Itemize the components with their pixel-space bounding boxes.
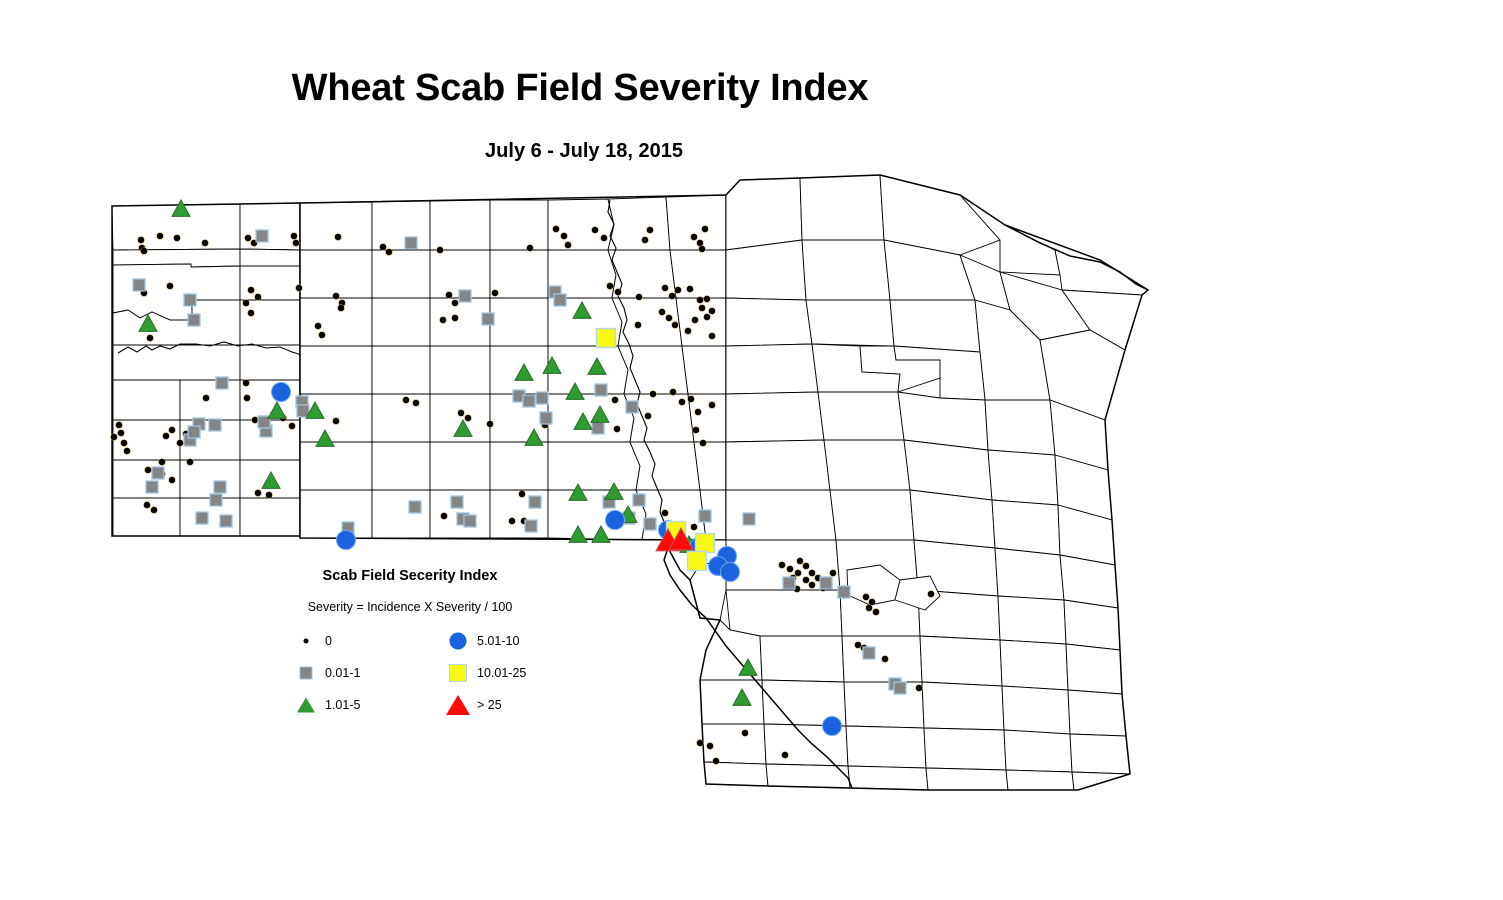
map-point-0[interactable] <box>863 594 870 601</box>
map-canvas[interactable] <box>0 0 1503 900</box>
map-point-0[interactable] <box>333 293 340 300</box>
map-point-0[interactable] <box>177 440 184 447</box>
map-point-0[interactable] <box>243 300 250 307</box>
map-point-0[interactable] <box>121 440 128 447</box>
legend-formula: Severity = Incidence X Severity / 100 <box>285 600 535 614</box>
map-point-0[interactable] <box>662 285 669 292</box>
map-point-0[interactable] <box>413 400 420 407</box>
map-point-0[interactable] <box>561 233 568 240</box>
map-point-0[interactable] <box>151 507 158 514</box>
map-point-0[interactable] <box>662 510 669 517</box>
map-point-0.01-1[interactable] <box>633 494 645 506</box>
map-point-0[interactable] <box>830 570 837 577</box>
map-point-0[interactable] <box>592 227 599 234</box>
map-point-0.01-1[interactable] <box>196 512 208 524</box>
map-point-0[interactable] <box>380 244 387 251</box>
map-point-0[interactable] <box>509 518 516 525</box>
map-point-0[interactable] <box>787 566 794 573</box>
map-point-0[interactable] <box>645 413 652 420</box>
map-point-0[interactable] <box>797 558 804 565</box>
map-point-0[interactable] <box>255 294 262 301</box>
map-point-0[interactable] <box>666 315 673 322</box>
map-point-0[interactable] <box>289 423 296 430</box>
map-point-0.01-1[interactable] <box>133 279 145 291</box>
map-point-0[interactable] <box>465 415 472 422</box>
map-point-0.01-1[interactable] <box>592 422 604 434</box>
map-point-0.01-1[interactable] <box>256 230 268 242</box>
map-point-0[interactable] <box>437 247 444 254</box>
green-triangle-icon <box>293 692 319 718</box>
map-point-0.01-1[interactable] <box>216 377 228 389</box>
map-point-0[interactable] <box>672 322 679 329</box>
map-point-0.01-1[interactable] <box>554 294 566 306</box>
map-point-0[interactable] <box>803 577 810 584</box>
map-point-0[interactable] <box>713 758 720 765</box>
map-point-0[interactable] <box>691 524 698 531</box>
map-point-0[interactable] <box>111 434 118 441</box>
map-point-5.01-10[interactable] <box>823 717 842 736</box>
blue-circle-glyph <box>450 633 467 650</box>
map-point-0.01-1[interactable] <box>464 515 476 527</box>
legend-entry-label: 5.01-10 <box>477 634 519 648</box>
map-point-0[interactable] <box>742 730 749 737</box>
map-point-0[interactable] <box>452 300 459 307</box>
map-point-0.01-1[interactable] <box>523 395 535 407</box>
map-point-0[interactable] <box>704 296 711 303</box>
map-point-0[interactable] <box>647 227 654 234</box>
map-point-0[interactable] <box>709 402 716 409</box>
map-point-0[interactable] <box>245 235 252 242</box>
map-point-0.01-1[interactable] <box>863 647 875 659</box>
map-point-0.01-1[interactable] <box>644 518 656 530</box>
map-point-0[interactable] <box>687 286 694 293</box>
map-point-5.01-10[interactable] <box>272 383 291 402</box>
map-point-0[interactable] <box>601 235 608 242</box>
map-point-0.01-1[interactable] <box>146 481 158 493</box>
map-point-0[interactable] <box>688 396 695 403</box>
map-point-0[interactable] <box>203 395 210 402</box>
map-point-0[interactable] <box>615 289 622 296</box>
map-point-0[interactable] <box>699 246 706 253</box>
gray-square-icon <box>293 660 319 686</box>
map-point-0[interactable] <box>685 328 692 335</box>
map-point-0[interactable] <box>487 421 494 428</box>
map-point-0[interactable] <box>458 410 465 417</box>
map-point-0[interactable] <box>869 599 876 606</box>
map-point-0[interactable] <box>642 237 649 244</box>
map-point-0[interactable] <box>693 427 700 434</box>
map-point-5.01-10[interactable] <box>337 531 356 550</box>
map-point-0.01-1[interactable] <box>184 294 196 306</box>
map-point-0[interactable] <box>614 426 621 433</box>
black-dot-glyph <box>304 639 309 644</box>
map-point-0[interactable] <box>702 226 709 233</box>
map-point-0[interactable] <box>565 242 572 249</box>
map-point-0[interactable] <box>116 422 123 429</box>
map-svg <box>0 0 1503 900</box>
map-point-10.01-25[interactable] <box>597 329 616 348</box>
map-point-0[interactable] <box>650 391 657 398</box>
map-point-0[interactable] <box>169 477 176 484</box>
map-point-0[interactable] <box>782 752 789 759</box>
green-triangle-glyph <box>297 698 315 713</box>
map-point-0[interactable] <box>386 249 393 256</box>
red-triangle-icon <box>445 692 471 718</box>
map-point-0[interactable] <box>243 380 250 387</box>
map-point-0[interactable] <box>315 323 322 330</box>
map-point-0.01-1[interactable] <box>409 501 421 513</box>
map-point-0[interactable] <box>697 297 704 304</box>
map-point-0.01-1[interactable] <box>405 237 417 249</box>
map-point-0[interactable] <box>795 570 802 577</box>
map-point-0[interactable] <box>636 294 643 301</box>
map-point-0.01-1[interactable] <box>152 467 164 479</box>
map-point-0.01-1[interactable] <box>459 290 471 302</box>
map-point-0[interactable] <box>141 248 148 255</box>
map-point-0[interactable] <box>779 562 786 569</box>
map-point-0.01-1[interactable] <box>626 401 638 413</box>
map-point-5.01-10[interactable] <box>606 511 625 530</box>
map-point-0[interactable] <box>607 283 614 290</box>
map-point-0[interactable] <box>809 582 816 589</box>
map-point-0.01-1[interactable] <box>451 496 463 508</box>
map-point-0.01-1[interactable] <box>699 510 711 522</box>
map-point-0[interactable] <box>855 642 862 649</box>
map-point-0.01-1[interactable] <box>214 481 226 493</box>
map-point-0[interactable] <box>492 290 499 297</box>
map-point-0[interactable] <box>635 322 642 329</box>
map-point-0[interactable] <box>248 287 255 294</box>
map-point-0[interactable] <box>699 305 706 312</box>
map-point-0[interactable] <box>697 740 704 747</box>
map-point-0[interactable] <box>338 305 345 312</box>
map-point-0[interactable] <box>291 233 298 240</box>
map-point-0[interactable] <box>679 399 686 406</box>
map-point-0.01-1[interactable] <box>188 314 200 326</box>
map-point-0.01-1[interactable] <box>540 412 552 424</box>
map-point-0[interactable] <box>670 389 677 396</box>
map-point-0.01-1[interactable] <box>838 586 850 598</box>
map-point-0[interactable] <box>704 314 711 321</box>
yellow-square-glyph <box>449 664 467 682</box>
map-point-0[interactable] <box>695 409 702 416</box>
legend-entry-label: 0 <box>325 634 332 648</box>
map-point-0[interactable] <box>167 283 174 290</box>
map-point-0[interactable] <box>709 308 716 315</box>
map-point-0[interactable] <box>159 459 166 466</box>
yellow-square-icon <box>445 660 471 686</box>
legend-entry-label: 0.01-1 <box>325 666 360 680</box>
map-point-0[interactable] <box>403 397 410 404</box>
map-point-0[interactable] <box>244 395 251 402</box>
map-point-0[interactable] <box>709 333 716 340</box>
map-point-0[interactable] <box>916 685 923 692</box>
black-dot-icon <box>293 628 319 654</box>
map-point-0.01-1[interactable] <box>188 426 200 438</box>
map-point-0[interactable] <box>446 292 453 299</box>
blue-circle-icon <box>445 628 471 654</box>
map-point-0[interactable] <box>803 563 810 570</box>
map-point-0[interactable] <box>333 418 340 425</box>
map-point-5.01-10[interactable] <box>721 563 740 582</box>
map-point-0.01-1[interactable] <box>743 513 755 525</box>
map-point-0[interactable] <box>928 591 935 598</box>
map-point-10.01-25[interactable] <box>688 552 707 571</box>
north-dakota-counties <box>300 195 726 540</box>
legend-entry-label: 1.01-5 <box>325 698 360 712</box>
map-point-0.01-1[interactable] <box>783 577 795 589</box>
map-point-0[interactable] <box>882 656 889 663</box>
map-point-0[interactable] <box>124 448 131 455</box>
map-point-0.01-1[interactable] <box>894 682 906 694</box>
map-point-0[interactable] <box>335 234 342 241</box>
map-point-0[interactable] <box>296 285 303 292</box>
map-point-0[interactable] <box>169 427 176 434</box>
map-point-0[interactable] <box>692 317 699 324</box>
map-point-0[interactable] <box>138 237 145 244</box>
map-point-0[interactable] <box>163 433 170 440</box>
map-point-0.01-1[interactable] <box>210 494 222 506</box>
map-point-0[interactable] <box>452 315 459 322</box>
map-point-0[interactable] <box>248 310 255 317</box>
map-point-0[interactable] <box>157 233 164 240</box>
map-point-0[interactable] <box>659 309 666 316</box>
map-page: Wheat Scab Field Severity Index July 6 -… <box>0 0 1503 900</box>
map-point-0.01-1[interactable] <box>525 520 537 532</box>
map-point-0.01-1[interactable] <box>220 515 232 527</box>
map-point-0.01-1[interactable] <box>209 419 221 431</box>
map-point-0[interactable] <box>144 502 151 509</box>
legend-entry-label: > 25 <box>477 698 502 712</box>
map-point-0[interactable] <box>118 430 125 437</box>
map-point-0[interactable] <box>675 287 682 294</box>
map-point-0[interactable] <box>440 317 447 324</box>
map-point-0[interactable] <box>255 490 262 497</box>
map-point-0.01-1[interactable] <box>536 392 548 404</box>
red-triangle-glyph <box>446 695 470 715</box>
map-point-0[interactable] <box>700 440 707 447</box>
map-point-0[interactable] <box>441 513 448 520</box>
map-point-0[interactable] <box>612 397 619 404</box>
map-point-0[interactable] <box>519 491 526 498</box>
gray-square-glyph <box>300 667 313 680</box>
map-point-0[interactable] <box>147 335 154 342</box>
map-point-0.01-1[interactable] <box>820 577 832 589</box>
map-point-0[interactable] <box>669 293 676 300</box>
map-point-10.01-25[interactable] <box>696 534 715 553</box>
map-point-0[interactable] <box>866 605 873 612</box>
legend: Scab Field Secerity Index Severity = Inc… <box>285 568 535 723</box>
map-point-0[interactable] <box>527 245 534 252</box>
map-point-0[interactable] <box>553 226 560 233</box>
map-point-0.01-1[interactable] <box>529 496 541 508</box>
map-point-0[interactable] <box>202 240 209 247</box>
map-point-0[interactable] <box>187 459 194 466</box>
map-point-0[interactable] <box>707 743 714 750</box>
map-point-0[interactable] <box>319 332 326 339</box>
legend-entry-label: 10.01-25 <box>477 666 526 680</box>
map-point-0[interactable] <box>809 570 816 577</box>
map-point-0.01-1[interactable] <box>595 384 607 396</box>
legend-title: Scab Field Secerity Index <box>295 568 525 584</box>
map-point-0[interactable] <box>873 609 880 616</box>
map-point-0.01-1[interactable] <box>482 313 494 325</box>
map-point-0[interactable] <box>266 492 273 499</box>
map-point-0[interactable] <box>691 234 698 241</box>
map-point-0[interactable] <box>174 235 181 242</box>
map-point-0[interactable] <box>145 467 152 474</box>
map-point-0[interactable] <box>293 240 300 247</box>
